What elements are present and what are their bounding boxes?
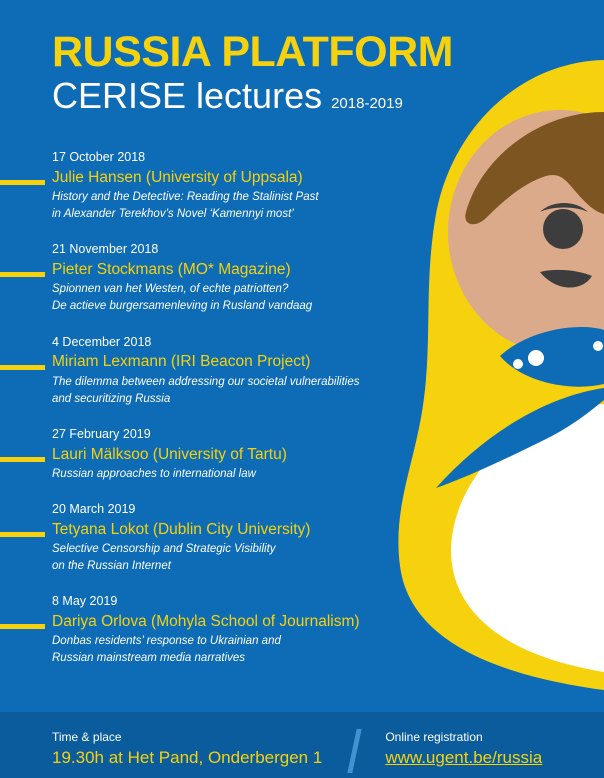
doll-apron-shape: [451, 404, 604, 712]
lecture-date: 17 October 2018: [52, 148, 420, 167]
doll-leaf-dot-small: [513, 359, 523, 369]
lecture-topic-line: Donbas residents’ response to Ukrainian …: [52, 633, 420, 650]
registration-label: Online registration: [385, 729, 542, 746]
list-item: 17 October 2018 Julie Hansen (University…: [0, 148, 420, 223]
lecture-date: 20 March 2019: [52, 500, 420, 519]
lecture-list: 17 October 2018 Julie Hansen (University…: [0, 148, 420, 684]
list-item: 27 February 2019 Lauri Mälksoo (Universi…: [0, 425, 420, 483]
time-and-place-block: Time & place 19.30h at Het Pand, Onderbe…: [52, 729, 322, 771]
page-title: RUSSIA PLATFORM: [52, 30, 472, 75]
doll-leaf-dot-third: [593, 341, 603, 351]
doll-eyebrow-shape: [540, 203, 588, 212]
lecture-marker-dash: [0, 457, 45, 462]
registration-block: Online registration www.ugent.be/russia: [385, 729, 542, 771]
registration-url-link[interactable]: www.ugent.be/russia: [385, 746, 542, 771]
lecture-marker-dash: [0, 532, 45, 537]
list-item: 4 December 2018 Miriam Lexmann (IRI Beac…: [0, 333, 420, 408]
footer-content: Time & place 19.30h at Het Pand, Onderbe…: [52, 729, 542, 773]
lecture-marker-dash: [0, 624, 45, 629]
time-place-value: 19.30h at Het Pand, Onderbergen 1: [52, 746, 322, 771]
lecture-topic-line: The dilemma between addressing our socie…: [52, 374, 420, 391]
lecture-date: 4 December 2018: [52, 333, 420, 352]
doll-hair-shape: [465, 112, 604, 224]
poster: RUSSIA PLATFORM CERISE lectures 2018-201…: [0, 0, 604, 778]
poster-header: RUSSIA PLATFORM CERISE lectures 2018-201…: [52, 30, 472, 115]
academic-year-label: 2018-2019: [331, 95, 403, 112]
lecture-date: 27 February 2019: [52, 425, 420, 444]
lecture-topic-line: Russian mainstream media narratives: [52, 650, 420, 667]
subtitle-row: CERISE lectures 2018-2019: [52, 77, 472, 115]
lecture-speaker: Tetyana Lokot (Dublin City University): [52, 519, 420, 541]
lecture-topic-line: and securitizing Russia: [52, 391, 420, 408]
lecture-speaker: Dariya Orlova (Mohyla School of Journali…: [52, 611, 420, 633]
lecture-speaker: Miriam Lexmann (IRI Beacon Project): [52, 351, 420, 373]
list-item: 20 March 2019 Tetyana Lokot (Dublin City…: [0, 500, 420, 575]
lecture-topic-line: Selective Censorship and Strategic Visib…: [52, 541, 420, 558]
lecture-date: 21 November 2018: [52, 240, 420, 259]
list-item: 21 November 2018 Pieter Stockmans (MO* M…: [0, 240, 420, 315]
time-place-label: Time & place: [52, 729, 322, 746]
doll-stem-shape: [436, 388, 604, 488]
footer-separator: [348, 729, 362, 773]
lecture-topic-line: in Alexander Terekhov’s Novel ‘Kamennyi …: [52, 206, 420, 223]
doll-leaf-dot-large: [528, 350, 544, 366]
poster-footer: Time & place 19.30h at Het Pand, Onderbe…: [0, 712, 604, 778]
lecture-marker-dash: [0, 180, 45, 185]
lecture-speaker: Pieter Stockmans (MO* Magazine): [52, 259, 420, 281]
lecture-speaker: Lauri Mälksoo (University of Tartu): [52, 444, 420, 466]
lecture-topic-line: on the Russian Internet: [52, 558, 420, 575]
list-item: 8 May 2019 Dariya Orlova (Mohyla School …: [0, 592, 420, 667]
doll-smile-shape: [540, 270, 592, 288]
lecture-date: 8 May 2019: [52, 592, 420, 611]
doll-leaf-ornament-shape: [500, 327, 604, 387]
lecture-marker-dash: [0, 365, 45, 370]
page-subtitle: CERISE lectures: [52, 77, 322, 115]
lecture-topic-line: De actieve burgersamenleving in Rusland …: [52, 298, 420, 315]
doll-eye-shape: [543, 209, 583, 249]
lecture-speaker: Julie Hansen (University of Uppsala): [52, 167, 420, 189]
lecture-topic-line: Russian approaches to international law: [52, 466, 420, 483]
doll-scarf-body-shape: [398, 60, 604, 712]
lecture-marker-dash: [0, 272, 45, 277]
lecture-topic-line: Spionnen van het Westen, of echte patrio…: [52, 281, 420, 298]
lecture-topic-line: History and the Detective: Reading the S…: [52, 189, 420, 206]
doll-face-shape: [448, 110, 604, 354]
